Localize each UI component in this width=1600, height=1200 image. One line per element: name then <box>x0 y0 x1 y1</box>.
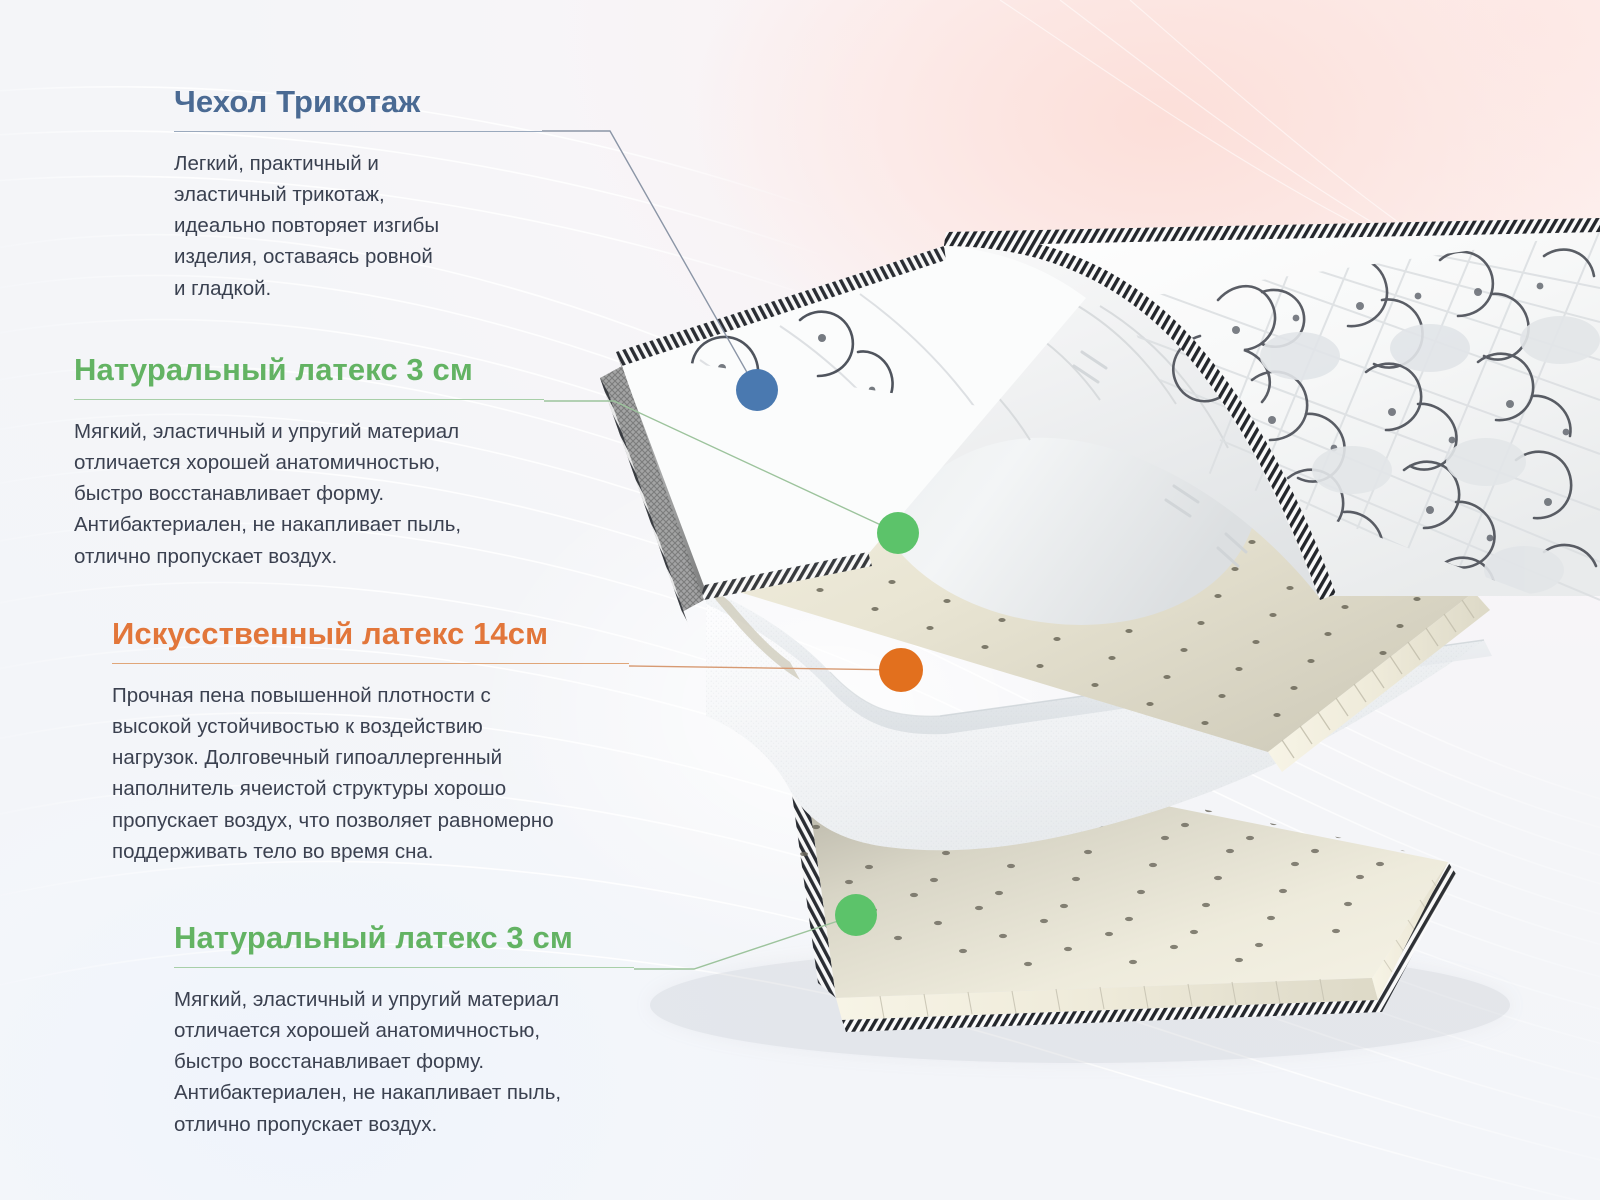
info-block-natural-latex-bottom-body: Мягкий, эластичный и упругий материал от… <box>174 984 644 1140</box>
info-block-cover-title: Чехол Трикотаж <box>174 84 554 120</box>
info-block-artificial-latex: Искусственный латекс 14см Прочная пена п… <box>112 616 637 867</box>
natural-latex-bottom-marker[interactable] <box>835 894 877 936</box>
info-block-natural-latex-bottom-title: Натуральный латекс 3 см <box>174 920 644 956</box>
info-block-artificial-latex-body: Прочная пена повышенной плотности с высо… <box>112 680 637 867</box>
info-block-natural-latex-bottom-rule <box>174 967 634 968</box>
info-block-artificial-latex-rule <box>112 663 629 664</box>
illustration-stage: Чехол Трикотаж Легкий, практичный и элас… <box>0 0 1600 1200</box>
info-block-natural-latex-top-body: Мягкий, эластичный и упругий материал от… <box>74 416 554 572</box>
info-block-natural-latex-top: Натуральный латекс 3 см Мягкий, эластичн… <box>74 352 554 572</box>
info-block-natural-latex-top-rule <box>74 399 544 400</box>
info-block-cover-rule <box>174 131 542 132</box>
natural-latex-top-marker[interactable] <box>877 512 919 554</box>
info-block-cover: Чехол Трикотаж Легкий, практичный и элас… <box>174 84 554 304</box>
info-block-artificial-latex-title: Искусственный латекс 14см <box>112 616 637 652</box>
info-block-natural-latex-top-title: Натуральный латекс 3 см <box>74 352 554 388</box>
cover-marker[interactable] <box>736 369 778 411</box>
info-block-natural-latex-bottom: Натуральный латекс 3 см Мягкий, эластичн… <box>174 920 644 1140</box>
artificial-latex-marker[interactable] <box>879 648 923 692</box>
info-block-cover-body: Легкий, практичный и эластичный трикотаж… <box>174 148 554 304</box>
